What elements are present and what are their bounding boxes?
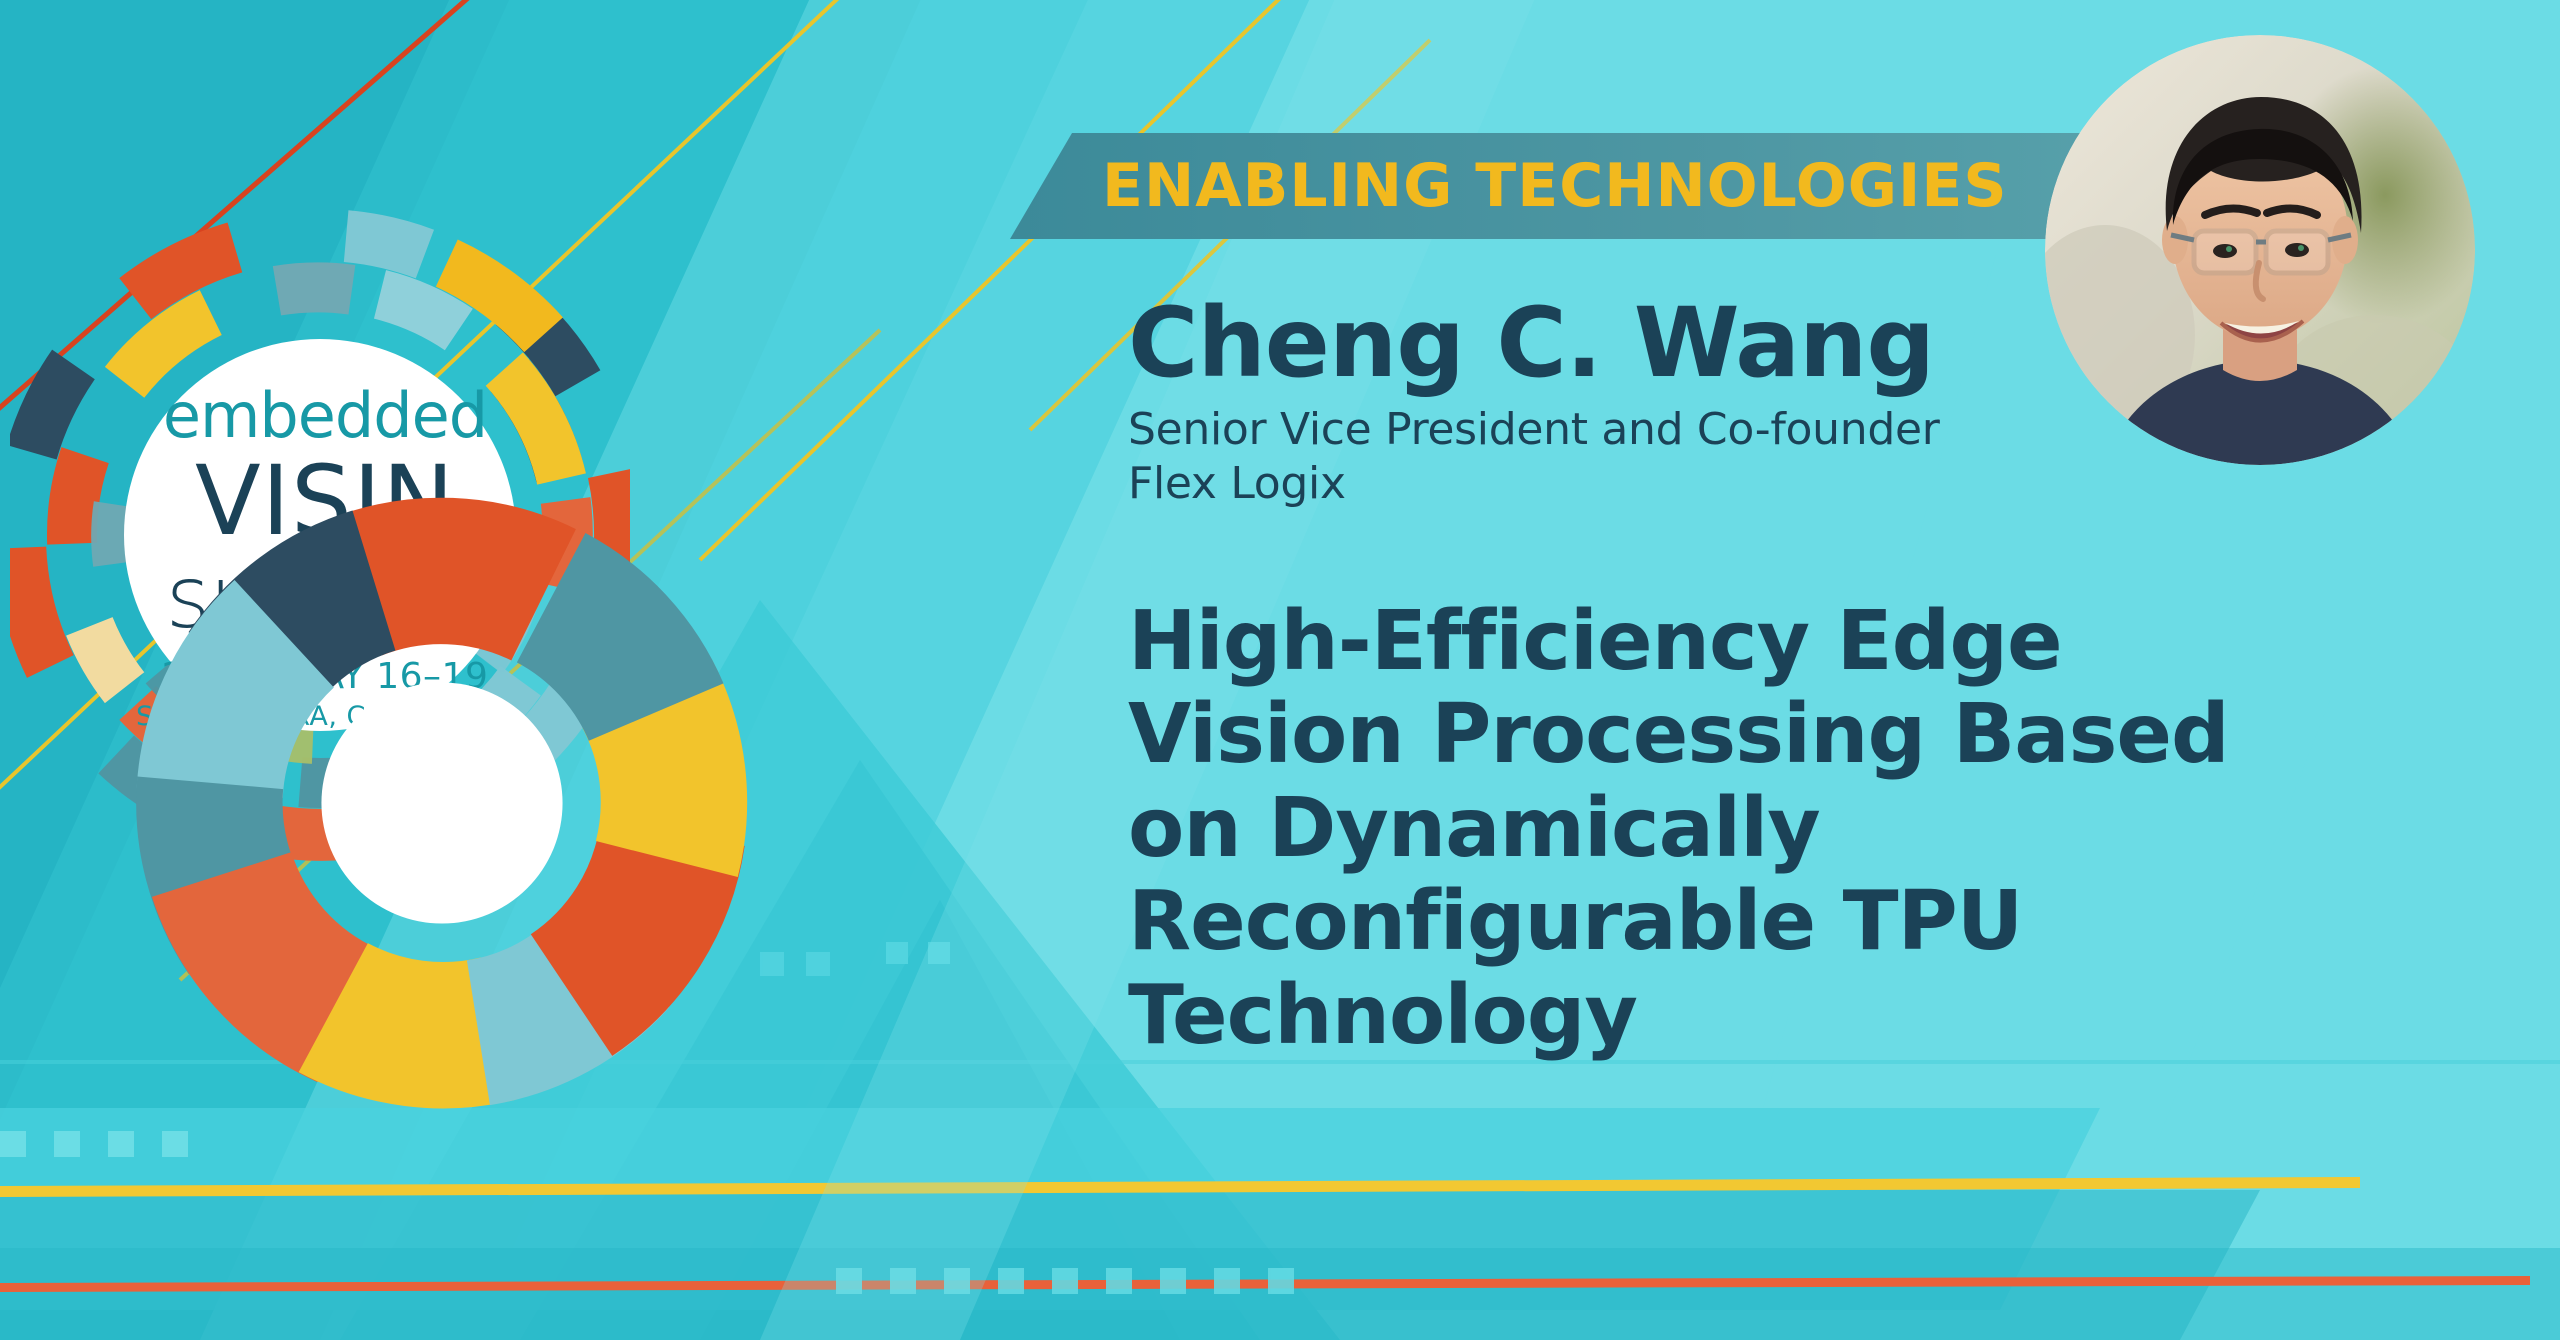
embedded-vision-summit-logo: embedded VISIN summit 2022|MAY 16–19 SAN… xyxy=(10,185,630,885)
speaker-name: Cheng C. Wang xyxy=(1128,295,2508,393)
speaker-organization: Flex Logix xyxy=(1128,457,2508,511)
speaker-role: Senior Vice President and Co-founder xyxy=(1128,403,2508,457)
logo-wordmark: embedded VISIN summit 2022|MAY 16–19 SAN… xyxy=(130,385,520,730)
talk-title: High-Efficiency Edge Vision Processing B… xyxy=(1128,595,2418,1062)
talk-title-line-4: Reconfigurable TPU xyxy=(1128,875,2418,968)
talk-title-line-5: Technology xyxy=(1128,969,2418,1062)
logo-vision-text: VISIN xyxy=(130,453,520,557)
talk-title-line-3: on Dynamically xyxy=(1128,782,2418,875)
speaker-info-block: Cheng C. Wang Senior Vice President and … xyxy=(1128,295,2508,510)
presentation-slide: embedded VISIN summit 2022|MAY 16–19 SAN… xyxy=(0,0,2560,1340)
logo-colorwheel-o-icon xyxy=(132,453,752,1153)
logo-vision-letters: VISIN xyxy=(130,453,520,549)
talk-title-line-2: Vision Processing Based xyxy=(1128,688,2418,781)
talk-title-line-1: High-Efficiency Edge xyxy=(1128,595,2418,688)
category-banner-label: ENABLING TECHNOLOGIES xyxy=(1102,133,2008,239)
logo-embedded-text: embedded xyxy=(130,385,520,447)
